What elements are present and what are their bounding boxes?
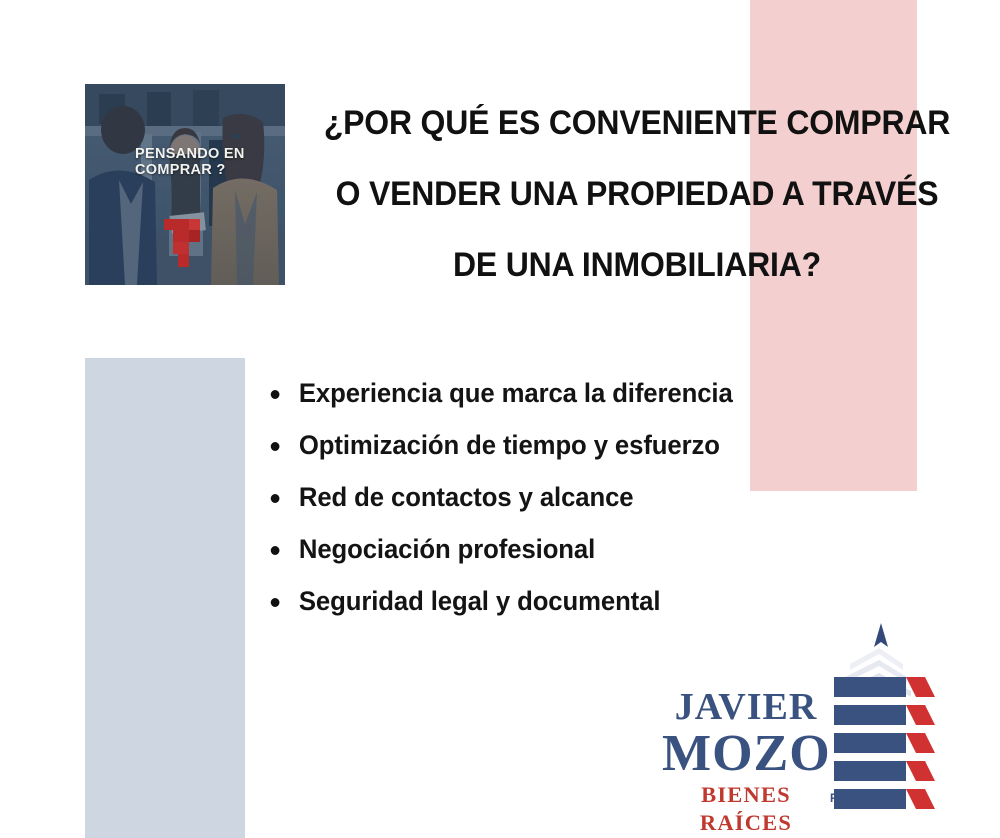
list-item-label: Optimización de tiempo y esfuerzo bbox=[299, 430, 720, 460]
list-item-label: Seguridad legal y documental bbox=[299, 586, 661, 616]
brand-wordmark: JAVIER MOZO BIENES RAÍCES bbox=[662, 687, 830, 837]
list-item: Seguridad legal y documental bbox=[262, 580, 902, 622]
photo-caption-line-1: PENSANDO EN bbox=[135, 146, 245, 162]
bullet-dot-icon bbox=[271, 390, 280, 399]
list-item-label: Negociación profesional bbox=[299, 534, 595, 564]
bullet-dot-icon bbox=[271, 442, 280, 451]
list-item: Red de contactos y alcance bbox=[262, 476, 902, 518]
brand-tagline: BIENES RAÍCES bbox=[662, 781, 830, 837]
list-item-label: Red de contactos y alcance bbox=[299, 482, 634, 512]
brand-name-first: JAVIER bbox=[662, 687, 830, 727]
gray-accent-band bbox=[85, 358, 245, 838]
benefits-list: Experiencia que marca la diferencia Opti… bbox=[262, 372, 922, 632]
list-item-label: Experiencia que marca la diferencia bbox=[299, 378, 733, 408]
photo-caption: PENSANDO EN COMPRAR ? bbox=[135, 146, 280, 178]
striped-building-tower-icon bbox=[817, 617, 942, 817]
poster-canvas: PENSANDO EN COMPRAR ? ¿POR QUÉ ES CONVEN… bbox=[0, 0, 1000, 838]
brand-logo: JAVIER MOZO BIENES RAÍCES REG. 3862 bbox=[662, 617, 942, 827]
bullet-dot-icon bbox=[271, 494, 280, 503]
bullet-dot-icon bbox=[271, 546, 280, 555]
hero-photo: PENSANDO EN COMPRAR ? bbox=[85, 84, 285, 285]
photo-caption-line-2: COMPRAR ? bbox=[135, 162, 226, 178]
bullet-dot-icon bbox=[271, 598, 280, 607]
list-item: Optimización de tiempo y esfuerzo bbox=[262, 424, 902, 466]
list-item: Negociación profesional bbox=[262, 528, 902, 570]
headline-line-1: ¿POR QUÉ ES CONVENIENTE COMPRAR bbox=[313, 88, 962, 159]
page-title: ¿POR QUÉ ES CONVENIENTE COMPRAR O VENDER… bbox=[313, 88, 962, 301]
list-item: Experiencia que marca la diferencia bbox=[262, 372, 902, 414]
headline-line-2: O VENDER UNA PROPIEDAD A TRAVÉS bbox=[313, 159, 962, 230]
brand-name-last: MOZO bbox=[662, 727, 830, 781]
red-stepped-t-mark-icon bbox=[164, 219, 200, 267]
headline-line-3: DE UNA INMOBILIARIA? bbox=[313, 230, 962, 301]
